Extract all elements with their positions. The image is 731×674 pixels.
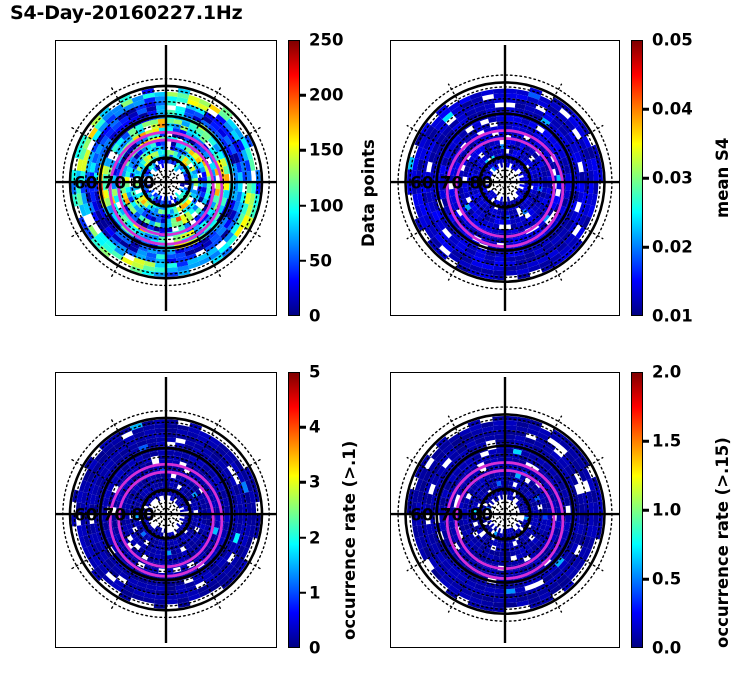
data-cell [155,595,166,600]
polar-plot-occurrence-rate-015: 607080 [391,373,619,647]
data-cell [166,424,178,429]
colorbar-tick-label: 250 [300,31,343,50]
data-cell [247,503,252,514]
colorbar-ticks-occurrence-rate-015: 0.00.51.01.52.0 [643,372,703,648]
data-cell [492,275,505,280]
data-cell [496,448,505,453]
data-cell [158,451,166,456]
colorbar-tick-mark [300,592,306,595]
polar-plot-mean-s4: 607080 [391,41,619,315]
data-cell [166,96,177,101]
data-cell [481,89,494,96]
data-cell [493,266,505,271]
data-cell [251,182,256,194]
data-cell [505,598,517,603]
data-cell [593,502,598,514]
data-cell [493,602,505,607]
latitude-tick-label: 60 [74,173,97,193]
colorbar-tick-label: 100 [300,196,343,215]
data-cell [493,93,505,98]
colorbar-tick-label: 150 [300,141,343,160]
data-cell [593,182,598,194]
data-cell [102,575,114,586]
colorbar-tick-label: 0 [300,639,320,658]
data-cell [238,514,243,524]
latitude-tick-label: 60 [74,505,97,525]
data-cell [155,590,166,595]
colorbar-tick-label: 200 [300,86,343,105]
colorbar-data-points[interactable] [288,40,300,316]
data-cell [161,163,164,168]
polar-plot-data-points: 607080 [56,41,276,315]
figure-canvas: S4-Day-20160227.1Hz 607080 0501001502002… [0,0,731,674]
colorbar-occurrence-rate-015[interactable] [631,372,643,648]
data-cell [495,588,505,593]
latitude-tick-labels: 607080 [74,505,155,525]
data-cell [224,506,229,514]
latitude-tick-label: 70 [440,505,463,525]
data-cell [154,267,166,272]
colorbar-tick-mark [643,440,649,443]
data-cell [505,89,517,94]
data-cell [493,89,505,94]
data-cell [242,503,247,514]
data-cell [154,604,166,609]
data-cell [579,172,584,182]
latitude-tick-label: 60 [410,505,433,525]
panel-occurrence-rate-01[interactable]: 607080 [55,372,277,648]
colorbar-tick-label: 0.03 [643,169,693,188]
data-cell [166,263,177,268]
data-cell [156,105,166,110]
data-cell [505,93,517,98]
colorbar-ticks-mean-s4: 0.010.020.030.040.05 [643,40,703,316]
colorbar-tick-label: 5 [300,363,320,382]
data-cell [238,504,243,514]
data-cell [495,256,505,261]
data-cell [505,421,517,426]
data-cell [154,599,166,604]
data-cell [242,171,247,182]
colorbar-tick-mark [300,149,306,152]
data-cell [566,174,571,183]
colorbar-tick-mark [300,260,306,263]
colorbar-tick-label: 0.02 [643,238,693,257]
data-cell [579,182,584,192]
latitude-tick-label: 80 [131,173,154,193]
data-cell [505,584,515,589]
data-cell [255,170,260,182]
latitude-tick-label: 80 [470,173,493,193]
data-cell [156,437,166,442]
data-cell [494,593,505,598]
colorbar-mean-s4[interactable] [631,40,643,316]
data-cell [158,119,166,124]
data-cell [238,172,243,182]
colorbar-tick-mark [643,509,649,512]
data-cell [588,182,593,194]
latitude-tick-labels: 607080 [410,173,493,193]
latitude-tick-label: 60 [410,173,433,193]
colorbar-tick-mark [300,481,306,484]
data-cell [566,514,571,523]
colorbar-tick-mark [643,246,649,249]
panel-mean-s4[interactable]: 607080 [390,40,620,316]
data-cell [579,514,584,524]
colorbar-tick-mark [300,426,306,429]
data-cell [180,509,185,512]
colorbar-tick-mark [643,108,649,111]
latitude-tick-labels: 607080 [74,173,155,193]
data-cell [154,272,166,277]
panel-occurrence-rate-015[interactable]: 607080 [390,372,620,648]
data-cell [516,523,521,528]
panel-data-points[interactable]: 607080 [55,40,277,316]
data-cell [166,428,177,433]
data-cell [505,266,517,271]
data-cell [509,481,514,486]
data-cell [251,502,256,514]
data-cell [155,258,166,263]
data-cell [493,425,505,430]
data-cell [498,528,502,533]
data-cell [505,434,515,439]
data-cell [166,254,176,259]
data-cell [154,424,166,429]
colorbar-label-occurrence-rate-015: occurrence rate (>.15) [713,437,731,648]
colorbar-tick-mark [300,536,306,539]
data-cell [224,182,229,190]
latitude-tick-labels: 607080 [410,505,493,525]
colorbar-tick-mark [643,578,649,581]
data-cell [495,439,505,444]
latitude-tick-label: 80 [131,505,154,525]
colorbar-tick-label: 0.04 [643,100,693,119]
data-cell [593,170,598,182]
data-cell [238,182,243,192]
data-cell [588,171,593,183]
data-cell [579,504,584,514]
data-cell [505,448,514,453]
data-cell [224,174,229,182]
data-cell [155,96,166,101]
data-cell [505,602,517,607]
data-cell [156,586,166,591]
latitude-tick-label: 70 [103,505,126,525]
latitude-tick-label: 70 [103,173,126,193]
data-cell [247,514,252,525]
latitude-tick-label: 70 [440,173,463,193]
data-cell [166,267,178,272]
data-cell [588,503,593,515]
colorbar-label-mean-s4: mean S4 [713,138,731,218]
data-cell [566,182,571,191]
data-cell [505,256,515,261]
data-cell [493,421,505,426]
data-cell [500,163,503,168]
data-cell [500,196,503,201]
colorbar-tick-label: 0.05 [643,31,693,50]
data-cell [500,495,503,500]
polar-plot-occurrence-rate-01: 607080 [56,373,276,647]
data-cell [247,182,252,193]
data-cell [505,588,515,593]
data-cell [496,116,505,121]
colorbar-tick-mark [300,204,306,207]
data-cell [247,171,252,182]
data-cell [166,92,178,97]
data-cell [495,434,505,439]
colorbar-label-data-points: Data points [359,139,378,247]
data-cell [492,607,505,612]
data-cell [155,428,166,433]
data-cell [154,92,166,97]
data-cell [179,518,184,521]
page-title: S4-Day-20160227.1Hz [10,2,242,24]
data-cell [170,195,173,200]
latitude-tick-label: 80 [470,505,493,525]
data-cell [507,196,510,201]
colorbar-label-occurrence-rate-01: occurrence rate (>.1) [340,441,359,640]
data-cell [509,542,514,547]
colorbar-tick-label: 0.0 [643,639,681,658]
colorbar-tick-label: 0.01 [643,307,693,326]
colorbar-tick-mark [300,94,306,97]
data-cell [166,451,174,456]
data-cell [494,261,505,266]
colorbar-tick-mark [643,177,649,180]
data-cell [492,416,505,421]
colorbar-tick-label: 0 [300,307,320,326]
data-cell [519,184,524,187]
colorbar-occurrence-rate-01[interactable] [288,372,300,648]
data-cell [166,119,174,124]
data-cell [166,599,178,604]
data-cell [155,263,166,268]
data-cell [495,107,505,112]
data-cell [156,254,166,259]
data-cell [166,595,177,600]
data-cell [493,270,505,275]
data-cell [505,270,517,275]
data-cell [166,437,176,442]
data-cell [505,252,515,257]
colorbar-ticks-data-points: 050100150200250 [300,40,360,316]
data-cell [593,514,598,526]
colorbar-tick-label: 2.0 [643,363,681,382]
data-cell [505,425,517,430]
data-cell [224,514,229,522]
data-cell [166,586,176,591]
data-cell [588,514,593,526]
data-cell [505,116,514,121]
data-cell [251,514,256,526]
data-cell [493,598,505,603]
